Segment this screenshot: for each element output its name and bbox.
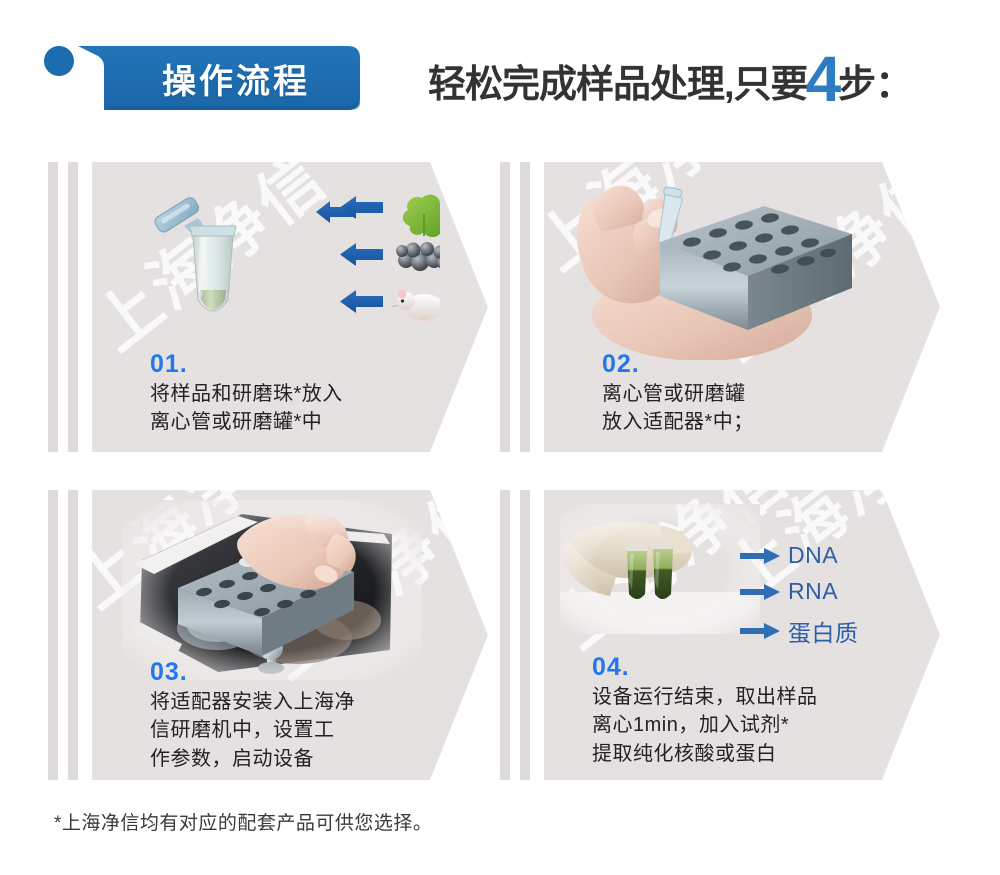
step-number: 04.: [592, 653, 630, 682]
step-02-illustration: [552, 170, 882, 360]
output-label: DNA: [788, 542, 838, 569]
step-04-illustration: [560, 504, 760, 634]
arrow-right-icon: [740, 623, 780, 639]
step-card-02: 上海净信 上海净信: [500, 162, 940, 452]
card-side-bars: [500, 162, 546, 452]
card-bar: [48, 490, 58, 780]
card-side-bars: [500, 490, 546, 780]
output-row-protein: 蛋白质: [740, 614, 859, 648]
output-label: RNA: [788, 578, 838, 605]
step-03-illustration: [122, 500, 422, 680]
step-description: 将样品和研磨珠*放入 离心管或研磨罐*中: [150, 380, 343, 437]
card-body: 上海净信: [92, 162, 488, 452]
step-description: 离心管或研磨罐 放入适配器*中；: [602, 380, 754, 437]
step-number: 01.: [150, 350, 188, 379]
step-card-01: 上海净信: [48, 162, 488, 452]
step-description: 将适配器安装入上海净 信研磨机中，设置工 作参数，启动设备: [150, 688, 355, 773]
step-description: 设备运行结束，取出样品 离心1min，加入试剂* 提取纯化核酸或蛋白: [592, 683, 818, 768]
step-01-illustration: [140, 182, 440, 352]
step-card-04: 上海净信 上海净信: [500, 490, 940, 780]
card-side-bars: [48, 490, 94, 780]
card-bar: [68, 490, 78, 780]
output-row-dna: DNA: [740, 542, 838, 569]
step-card-03: 上海净信 上海净信: [48, 490, 488, 780]
output-row-rna: RNA: [740, 578, 838, 605]
steps-grid: 上海净信: [0, 0, 1000, 875]
card-bar: [500, 490, 510, 780]
arrow-right-icon: [740, 548, 780, 564]
card-bar: [520, 490, 530, 780]
card-body: 上海净信 上海净信: [92, 490, 488, 780]
card-bar: [68, 162, 78, 452]
footnote: *上海净信均有对应的配套产品可供您选择。: [54, 808, 432, 835]
card-bar: [520, 162, 530, 452]
card-body: 上海净信 上海净信: [544, 162, 940, 452]
output-label: 蛋白质: [788, 614, 859, 648]
card-side-bars: [48, 162, 94, 452]
step-number: 03.: [150, 658, 188, 687]
card-body: 上海净信 上海净信: [544, 490, 940, 780]
card-bar: [500, 162, 510, 452]
card-bar: [48, 162, 58, 452]
arrow-right-icon: [740, 584, 780, 600]
step-number: 02.: [602, 350, 640, 379]
